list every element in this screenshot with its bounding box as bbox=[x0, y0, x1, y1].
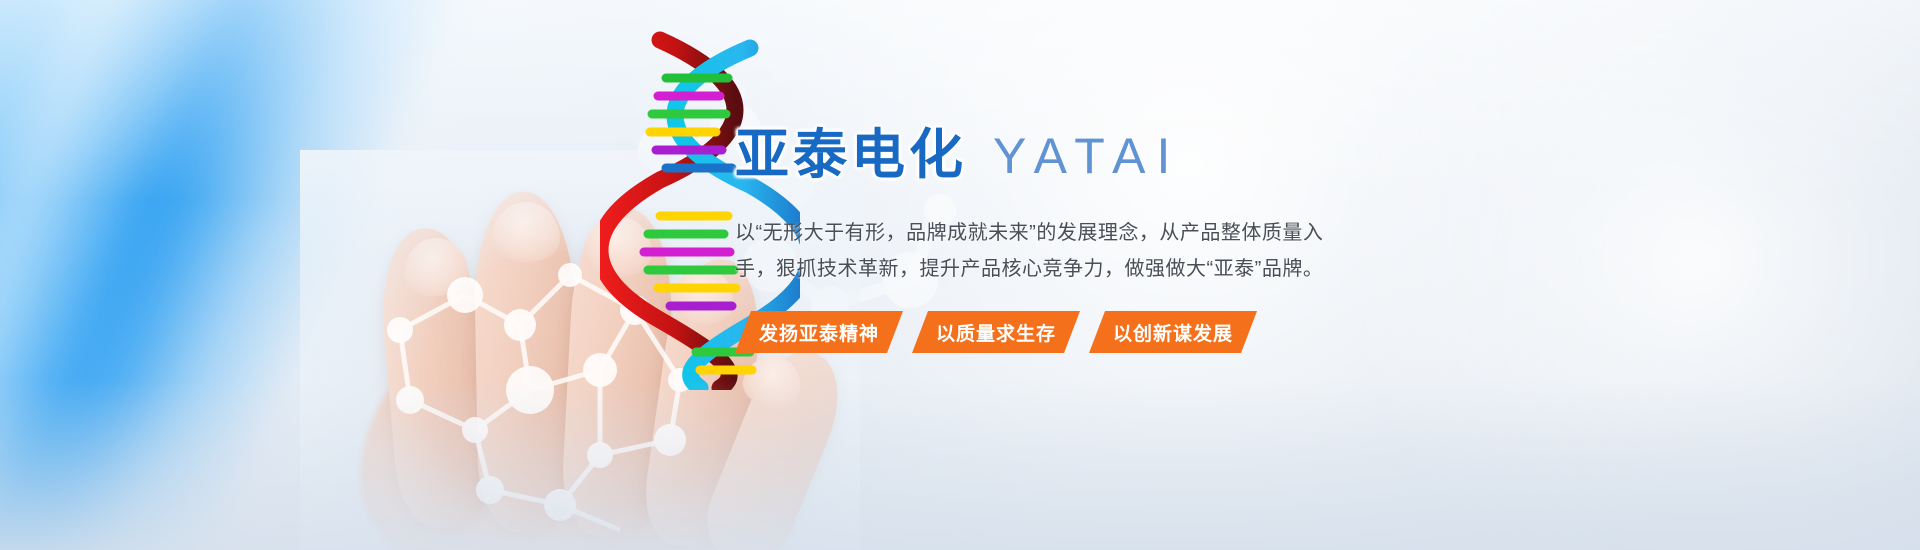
description-line: 手，狠抓技术革新，提升产品核心竞争力，做强做大“亚泰”品牌。 bbox=[735, 251, 1535, 287]
banner-title: 亚泰电化 YATAI bbox=[735, 110, 1535, 189]
slogan-tag[interactable]: 以质量求生存 bbox=[912, 311, 1080, 353]
banner-description: 以“无形大于有形，品牌成就未来”的发展理念，从产品整体质量入 手，狠抓技术革新，… bbox=[735, 215, 1535, 287]
title-chinese: 亚泰电化 bbox=[735, 110, 967, 189]
slogan-tag[interactable]: 以创新谋发展 bbox=[1089, 311, 1257, 353]
banner-content: 亚泰电化 YATAI 以“无形大于有形，品牌成就未来”的发展理念，从产品整体质量… bbox=[735, 110, 1535, 353]
slogan-tag-list: 发扬亚泰精神 以质量求生存 以创新谋发展 bbox=[735, 311, 1535, 353]
slogan-tag[interactable]: 发扬亚泰精神 bbox=[735, 311, 903, 353]
bottom-haze-overlay bbox=[0, 380, 1920, 550]
title-english: YATAI bbox=[993, 127, 1181, 185]
promo-banner: 亚泰电化 YATAI 以“无形大于有形，品牌成就未来”的发展理念，从产品整体质量… bbox=[0, 0, 1920, 550]
description-line: 以“无形大于有形，品牌成就未来”的发展理念，从产品整体质量入 bbox=[735, 215, 1535, 251]
